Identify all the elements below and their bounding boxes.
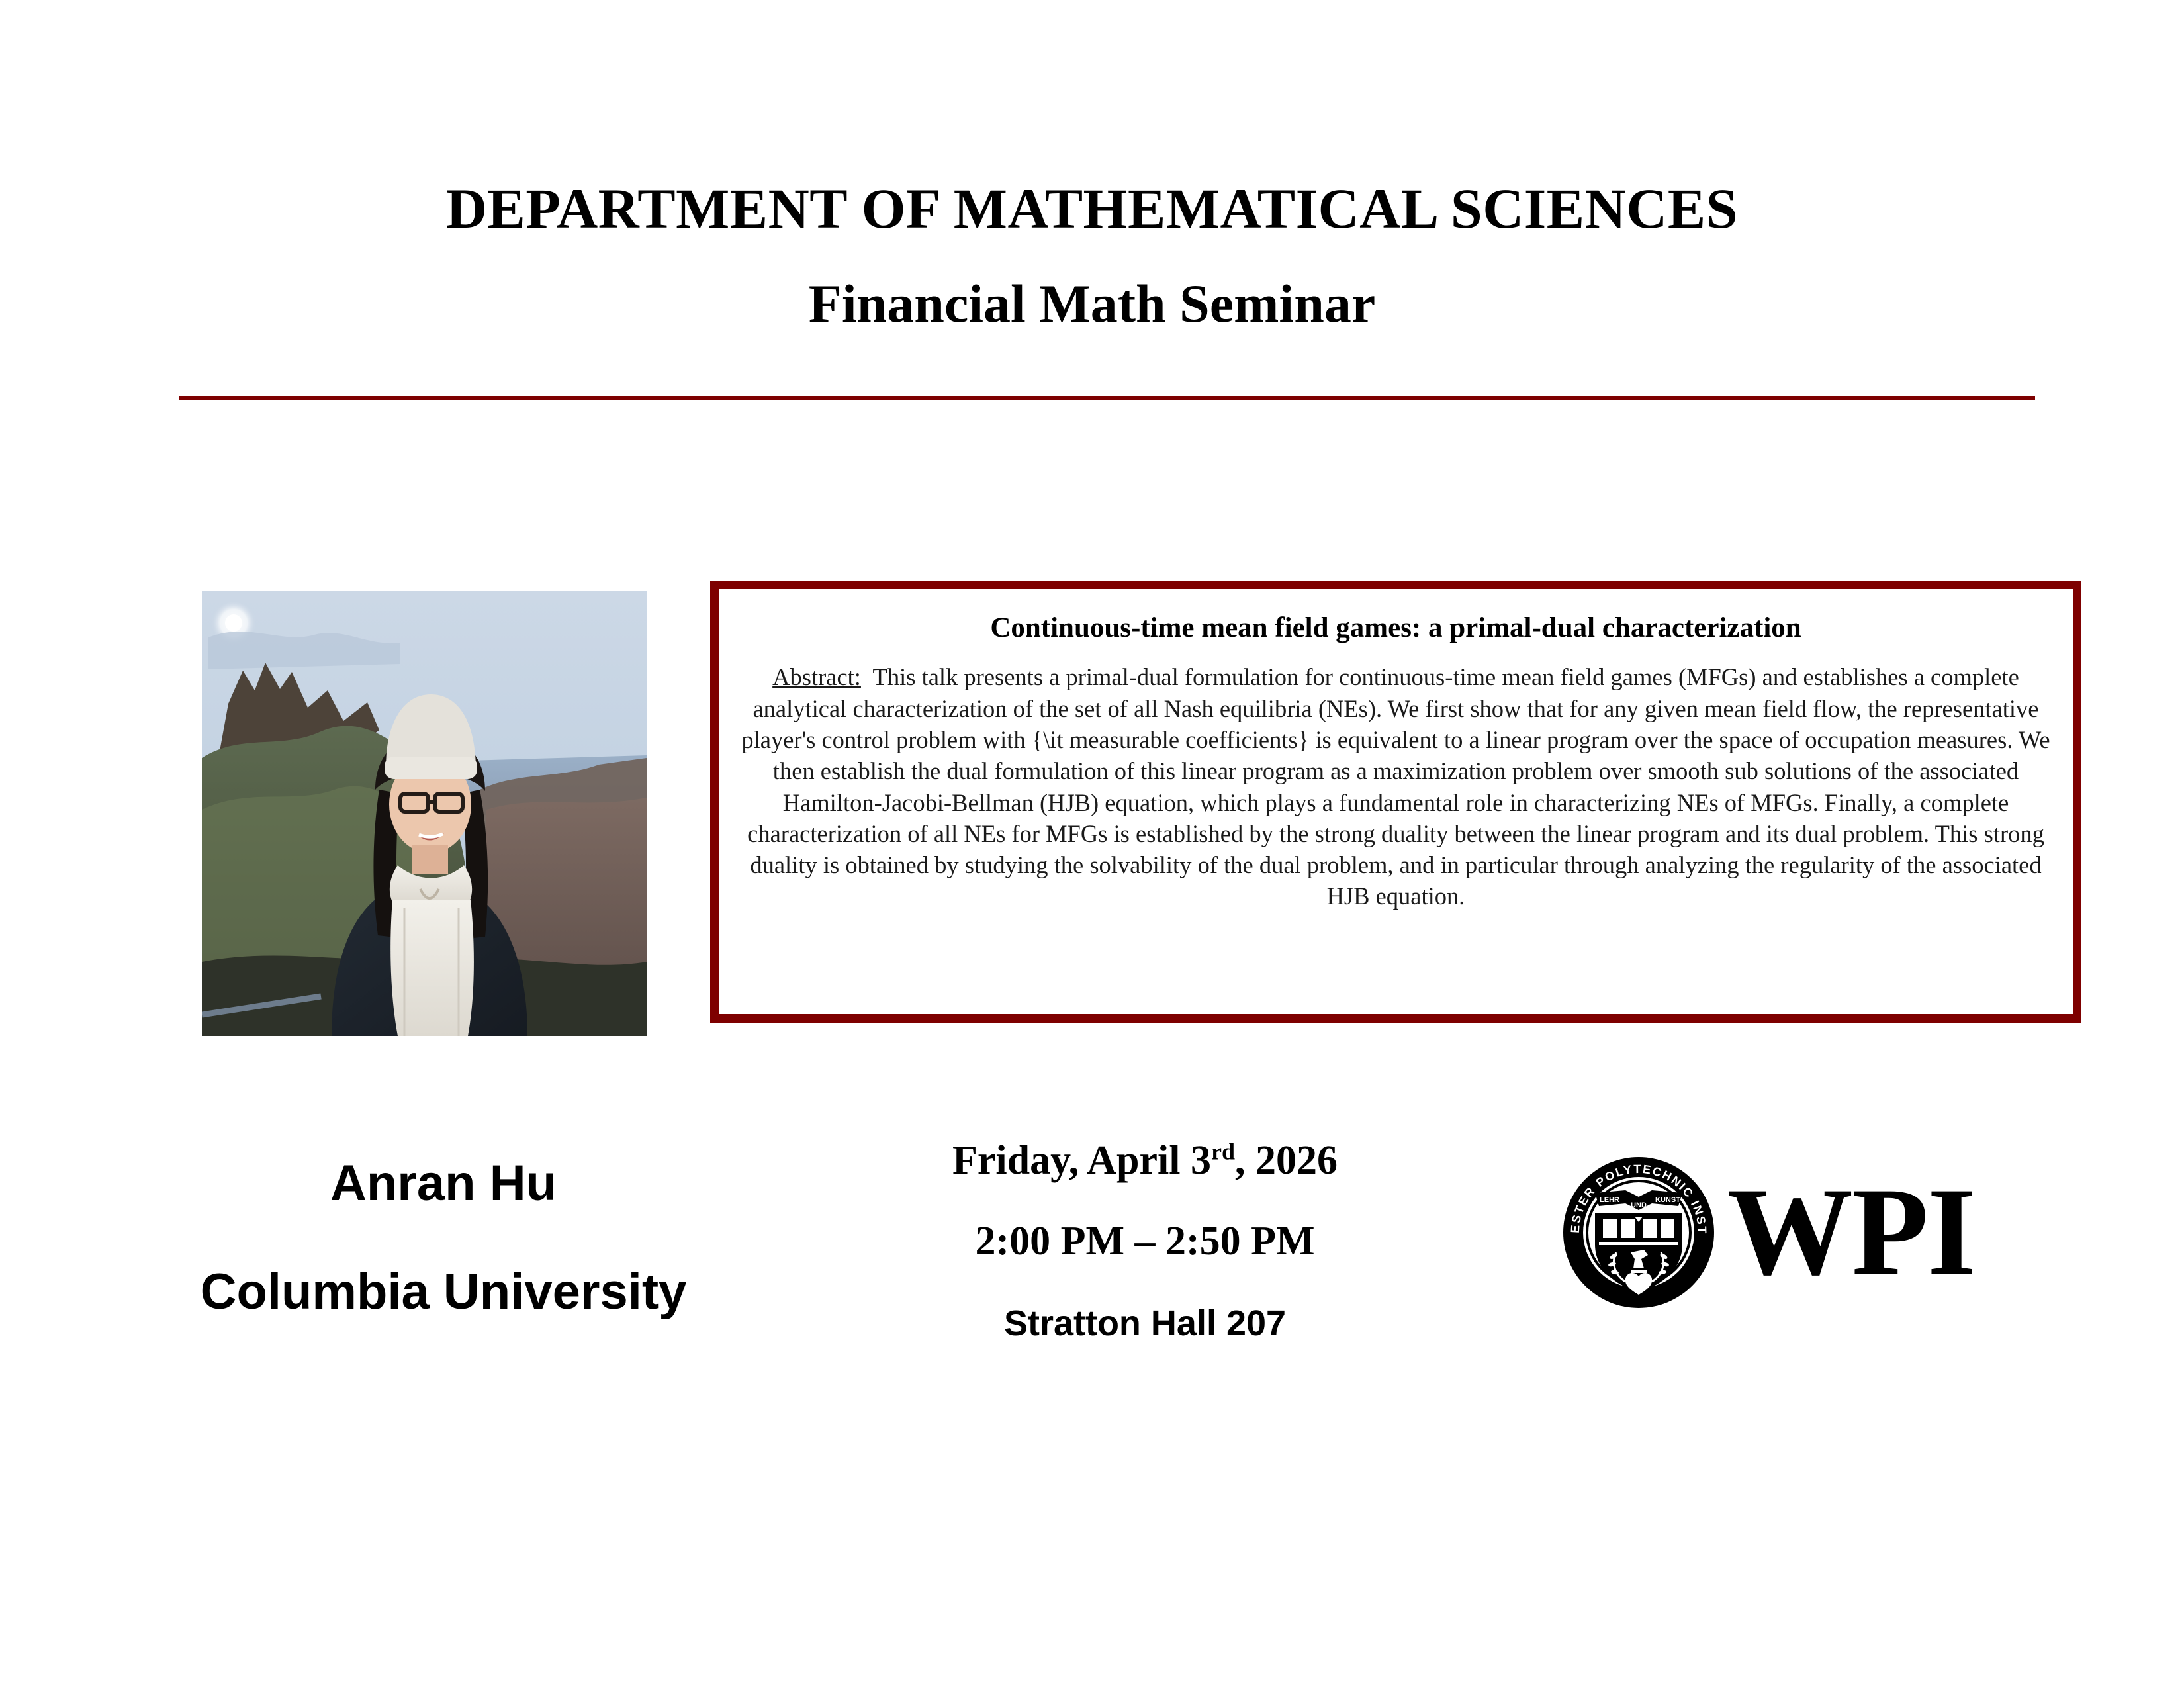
abstract-box: Continuous-time mean field games: a prim… bbox=[710, 581, 2081, 1023]
seal-motto-left: LEHR bbox=[1600, 1196, 1619, 1204]
wpi-logo: WORCESTER POLYTECHNIC INSTITUTE • 1865 •… bbox=[1562, 1153, 2065, 1312]
abstract-label: Abstract: bbox=[772, 663, 861, 690]
abstract-text: This talk presents a primal-dual formula… bbox=[741, 663, 2050, 910]
event-date-ordinal: rd bbox=[1211, 1138, 1235, 1164]
speaker-photo bbox=[202, 591, 647, 1036]
speaker-block: Anran Hu Columbia University bbox=[79, 1158, 807, 1317]
event-time: 2:00 PM – 2:50 PM bbox=[841, 1221, 1449, 1262]
poster-footer: Anran Hu Columbia University Friday, Apr… bbox=[0, 1125, 2184, 1470]
wpi-seal-icon: WORCESTER POLYTECHNIC INSTITUTE • 1865 •… bbox=[1562, 1156, 1715, 1309]
abstract-body: Abstract: This talk presents a primal-du… bbox=[739, 661, 2053, 912]
speaker-name: Anran Hu bbox=[79, 1158, 807, 1209]
event-date: Friday, April 3rd, 2026 bbox=[841, 1140, 1449, 1181]
wpi-wordmark: WPI bbox=[1727, 1180, 1975, 1286]
speaker-portrait-image bbox=[202, 591, 647, 1036]
talk-title: Continuous-time mean field games: a prim… bbox=[739, 612, 2053, 644]
seal-motto-right: KUNST bbox=[1655, 1196, 1680, 1204]
seminar-title: Financial Math Seminar bbox=[0, 277, 2184, 331]
event-date-suffix: , 2026 bbox=[1235, 1138, 1338, 1183]
event-date-prefix: Friday, April 3 bbox=[952, 1138, 1211, 1183]
department-title: DEPARTMENT OF MATHEMATICAL SCIENCES bbox=[0, 180, 2184, 237]
poster-header: DEPARTMENT OF MATHEMATICAL SCIENCES Fina… bbox=[0, 0, 2184, 331]
speaker-affiliation: Columbia University bbox=[79, 1267, 807, 1317]
abstract-inner: Continuous-time mean field games: a prim… bbox=[719, 589, 2073, 919]
seal-motto-center: UND bbox=[1631, 1201, 1647, 1209]
event-details-block: Friday, April 3rd, 2026 2:00 PM – 2:50 P… bbox=[841, 1140, 1449, 1341]
header-divider-rule bbox=[179, 396, 2035, 400]
event-location: Stratton Hall 207 bbox=[841, 1305, 1449, 1341]
